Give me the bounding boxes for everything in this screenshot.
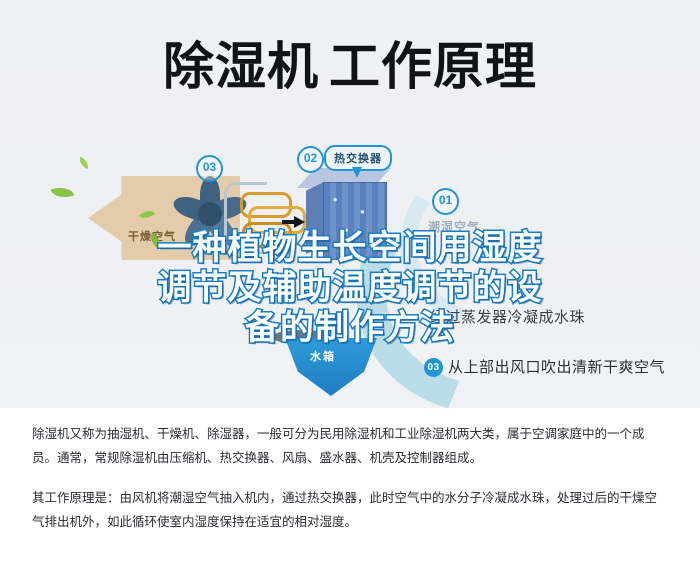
- airflow-arrow-icon: [294, 216, 305, 228]
- overlay-title-line-2: 调节及辅助温度调节的设: [0, 268, 700, 308]
- overlay-title-line-1: 一种植物生长空间用湿度: [0, 228, 700, 268]
- caption-step-03: 03从上部出风口吹出清新干爽空气: [424, 356, 665, 377]
- badge-03: 03: [196, 155, 223, 182]
- illustration-headline: 除湿机工作原理: [0, 38, 700, 98]
- body-paragraph-1: 除湿机又称为抽湿机、干燥机、除湿器，一般可分为民用除湿机和工业除湿机两大类，属于…: [0, 408, 700, 470]
- body-paragraph-2: 其工作原理是：由风机将潮湿空气抽入机内，通过热交换器，此时空气中的水分子冷凝成水…: [0, 470, 700, 534]
- leaf-icon: [77, 157, 91, 170]
- overlay-title: 一种植物生长空间用湿度 调节及辅助温度调节的设 备的制作方法: [0, 228, 700, 348]
- bubble-pointer-icon: [352, 167, 362, 178]
- headline-part-b: 工作原理: [329, 38, 537, 97]
- water-tank-label: 水箱: [310, 348, 336, 364]
- leaf-icon: [51, 183, 75, 202]
- overlay-title-line-3: 备的制作方法: [0, 308, 700, 348]
- page-root: 除湿机工作原理 干燥空气: [0, 0, 700, 566]
- caption-badge-03: 03: [424, 358, 443, 377]
- badge-01: 01: [432, 188, 459, 215]
- headline-part-a: 除湿机: [163, 38, 319, 97]
- caption-step-03-text: 从上部出风口吹出清新干爽空气: [448, 359, 665, 376]
- fan-hub: [198, 202, 222, 226]
- dehumidifier-illustration: 除湿机工作原理 干燥空气: [0, 0, 700, 408]
- badge-02: 02: [297, 146, 324, 173]
- article-body: 除湿机又称为抽湿机、干燥机、除湿器，一般可分为民用除湿机和工业除湿机两大类，属于…: [0, 408, 700, 566]
